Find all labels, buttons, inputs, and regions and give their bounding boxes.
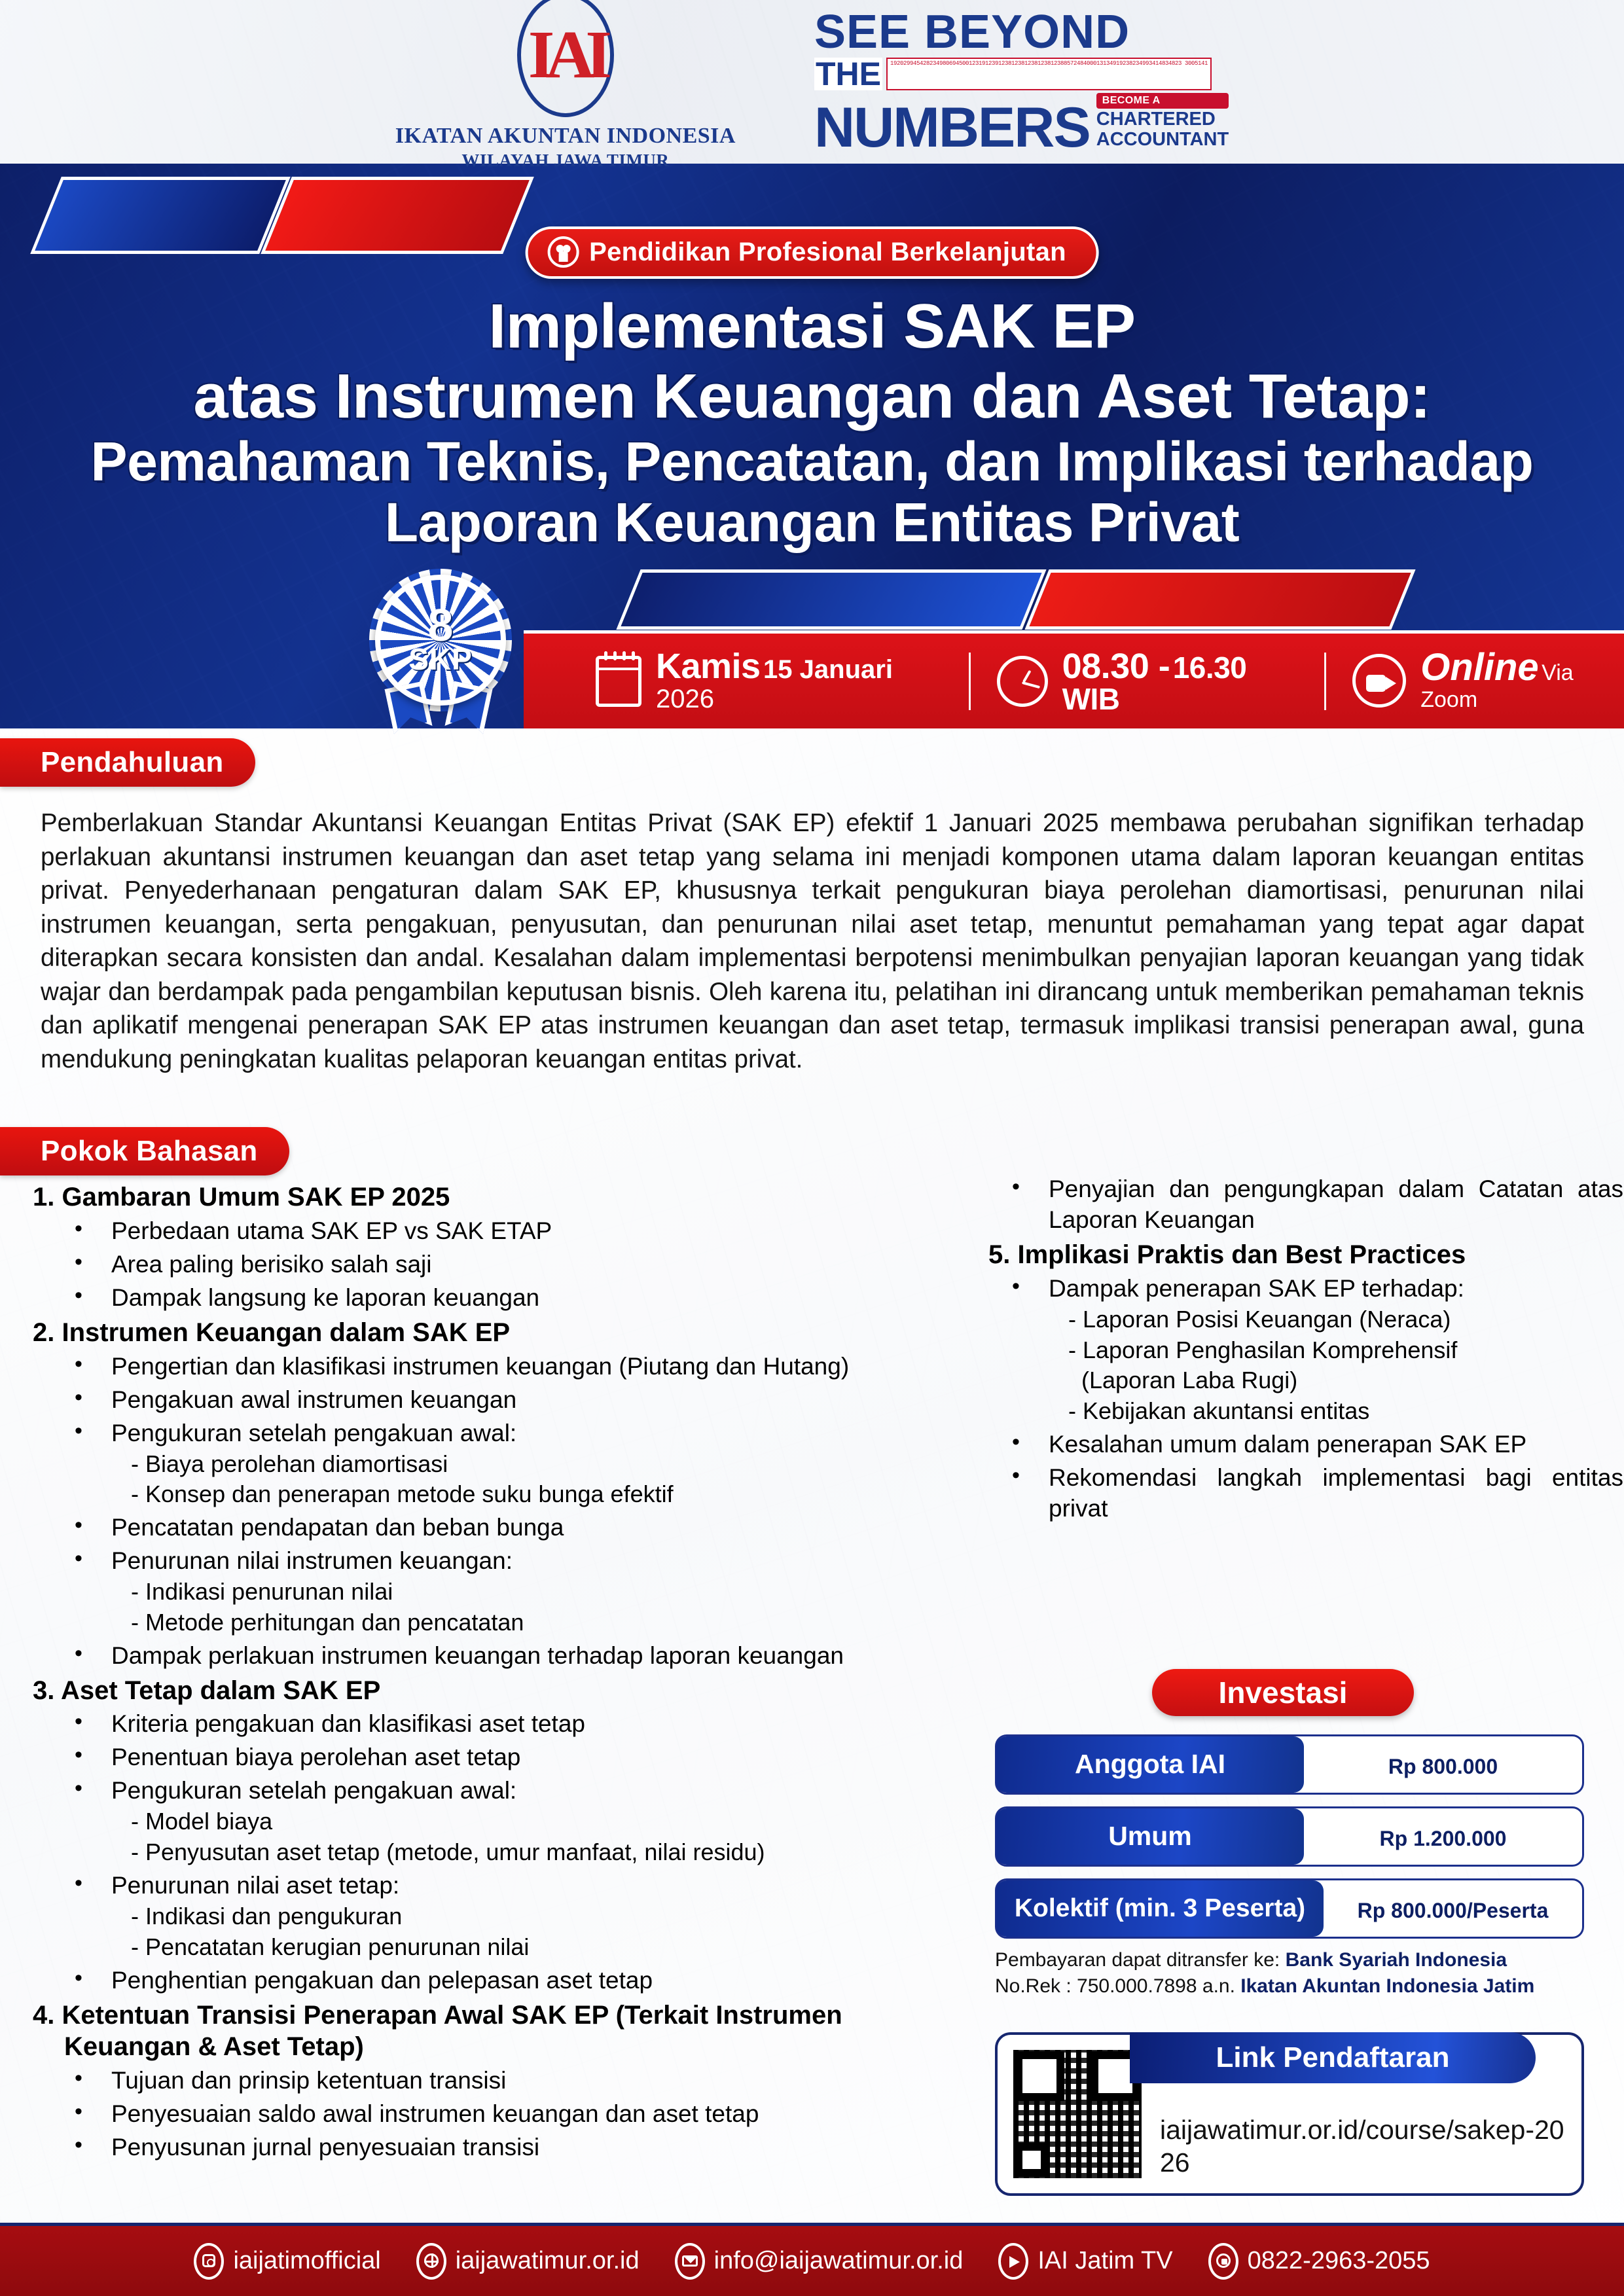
email-address: info@iaijawatimur.or.id [714,2247,964,2275]
topic-5-list: Dampak penerapan SAK EP terhadap: - Lapo… [1008,1274,1623,1524]
rosette-icon: 8 SKP [375,575,506,706]
list-item: Perbedaan utama SAK EP vs SAK ETAP [71,1216,962,1247]
account-holder: Ikatan Akuntan Indonesia Jatim [1240,1975,1534,1997]
skp-badge: 8 SKP [372,575,513,738]
qr-code-icon[interactable] [1009,2046,1146,2182]
list-subitem: - Metode perhitungan dan pencatatan [111,1607,962,1638]
campaign-chartered: CHARTERED [1096,110,1229,130]
decorative-parallelogram-blue [30,177,291,254]
topic-4-heading-line1: 4. Ketentuan Transisi Penerapan Awal SAK… [33,2001,842,2030]
list-subitem: (Laporan Laba Rugi) [1049,1365,1623,1396]
footer-contact-bar: iaijatimofficial iaijawatimur.or.id info… [0,2223,1624,2296]
campaign-the: THE [814,58,882,90]
list-item-label: Dampak penerapan SAK EP terhadap: [1049,1275,1464,1302]
campaign-accountant: ACCOUNTANT [1096,130,1229,150]
topic-4-heading-line2: Keuangan & Aset Tetap) [33,2031,962,2063]
infobar-decorative-strip [628,569,1414,632]
list-item: Rekomendasi langkah implementasi bagi en… [1008,1463,1623,1524]
bank-transfer-info: Pembayaran dapat ditransfer ke: Bank Sya… [995,1947,1610,1999]
decorative-parallelogram-red [261,177,534,254]
whatsapp-icon [1208,2243,1238,2280]
list-item-label: Penurunan nilai instrumen keuangan: [111,1547,513,1574]
registration-link-heading: Link Pendaftaran [1130,2032,1536,2083]
price-row: Umum Rp 1.200.000 [995,1806,1584,1867]
globe-icon [416,2243,446,2280]
list-item: Penurunan nilai aset tetap: - Indikasi d… [71,1871,962,1963]
campaign-become-a: BECOME A [1096,93,1229,109]
campaign-line-1: SEE BEYOND [814,10,1130,54]
org-region: WILAYAH JAWA TIMUR [461,151,669,171]
video-camera-icon [1352,654,1406,708]
clock-icon [997,656,1048,707]
price-row: Anggota IAI Rp 800.000 [995,1734,1584,1795]
section-tab-pendahuluan: Pendahuluan [0,738,255,787]
topic-2-list: Pengertian dan klasifikasi instrumen keu… [71,1352,962,1672]
website-url: iaijawatimur.or.id [456,2247,640,2275]
topic-1-heading: 1. Gambaran Umum SAK EP 2025 [33,1181,962,1213]
skp-number: 8 [428,606,454,645]
hero-decorative-bars [46,177,569,255]
list-subitem: - Indikasi dan pengukuran [111,1901,962,1932]
investasi-heading: Investasi [1152,1669,1414,1716]
list-subitem: - Biaya perolehan diamortisasi [111,1449,962,1480]
list-item: Area paling berisiko salah saji [71,1249,962,1280]
price-row: Kolektif (min. 3 Peserta) Rp 800.000/Pes… [995,1878,1584,1939]
youtube-channel: IAI Jatim TV [1038,2247,1172,2275]
event-date: 15 Januari [763,655,893,684]
list-item: Tujuan dan prinsip ketentuan transisi [71,2066,962,2096]
org-name: IKATAN AKUNTAN INDONESIA [395,124,736,149]
topic-4-list: Tujuan dan prinsip ketentuan transisi Pe… [71,2066,962,2163]
event-title: Implementasi SAK EP atas Instrumen Keuan… [0,292,1624,554]
bank-line2-plain: No.Rek : 750.000.7898 a.n. [995,1975,1240,1997]
event-time-block: 08.30 - 16.30 WIB [997,649,1299,714]
event-date-block: Kamis 15 Januari 2026 [596,649,943,714]
event-mode: Online [1420,646,1538,689]
iai-monogram: IAI [528,21,603,89]
instagram-handle: iaijatimofficial [233,2247,380,2275]
footer-instagram[interactable]: iaijatimofficial [194,2243,380,2280]
list-item: Pengakuan awal instrumen keuangan [71,1385,962,1416]
bank-name: Bank Syariah Indonesia [1286,1949,1507,1971]
topic-3-heading: 3. Aset Tetap dalam SAK EP [33,1675,962,1707]
price-label: Kolektif (min. 3 Peserta) [996,1880,1324,1937]
bank-line1-plain: Pembayaran dapat ditransfer ke: [995,1949,1286,1971]
divider [969,653,971,710]
title-line-2: atas Instrumen Keuangan dan Aset Tetap: [33,362,1591,432]
campaign-digits-strip: 1920299454282349806945001231912391238123… [886,58,1212,90]
instagram-icon [194,2243,224,2280]
calendar-icon [596,656,641,707]
strip-parallelogram-blue [616,569,1046,630]
list-subitem: - Kebijakan akuntansi entitas [1049,1396,1623,1427]
section-tab-pokok-bahasan: Pokok Bahasan [0,1127,289,1175]
list-item: Penyusunan jurnal penyesuaian transisi [71,2132,962,2163]
iai-logo: IAI IKATAN AKUNTAN INDONESIA WILAYAH JAW… [395,0,736,171]
list-subitem: - Pencatatan kerugian penurunan nilai [111,1932,962,1963]
list-item: Penyesuaian saldo awal instrumen keuanga… [71,2099,962,2130]
event-day: Kamis [656,647,761,686]
footer-website[interactable]: iaijawatimur.or.id [416,2243,640,2280]
divider [1324,653,1326,710]
list-item: Pengukuran setelah pengakuan awal: - Bia… [71,1418,962,1511]
list-item-label: Penurunan nilai aset tetap: [111,1872,399,1899]
campaign-numbers: NUMBERS [814,103,1090,153]
event-mode-block: Online Via Zoom [1352,649,1624,713]
list-subitem: - Laporan Penghasilan Komprehensif [1049,1335,1623,1366]
footer-whatsapp[interactable]: 0822-2963-2055 [1208,2243,1430,2280]
list-item: Kriteria pengakuan dan klasifikasi aset … [71,1709,962,1740]
see-beyond-numbers-logo: SEE BEYOND THE 1920299454282349806945001… [814,10,1229,154]
youtube-play-icon [998,2243,1028,2280]
list-subitem: - Indikasi penurunan nilai [111,1577,962,1607]
topic-4-continued-list: Penyajian dan pengungkapan dalam Catatan… [1008,1174,1623,1236]
price-label: Anggota IAI [996,1736,1304,1793]
price-value: Rp 1.200.000 [1304,1820,1582,1853]
program-badge: Pendidikan Profesional Berkelanjutan [525,226,1099,279]
list-subitem: - Konsep dan penerapan metode suku bunga… [111,1479,962,1510]
price-value: Rp 800.000 [1304,1748,1582,1781]
skp-unit: SKP [408,645,473,674]
pokok-bahasan-right-column: Penyajian dan pengungkapan dalam Catatan… [988,1172,1623,1527]
topic-3-list: Kriteria pengakuan dan klasifikasi aset … [71,1709,962,1996]
topic-5-heading: 5. Implikasi Praktis dan Best Practices [988,1239,1623,1271]
title-line-3: Pemahaman Teknis, Pencatatan, dan Implik… [33,431,1591,492]
pendahuluan-body: Pemberlakuan Standar Akuntansi Keuangan … [41,806,1584,1077]
price-label: Umum [996,1808,1304,1865]
list-item: Pengukuran setelah pengakuan awal: - Mod… [71,1776,962,1868]
envelope-icon [675,2243,705,2280]
list-item: Penghentian pengakuan dan pelepasan aset… [71,1965,962,1996]
list-item: Dampak penerapan SAK EP terhadap: - Lapo… [1008,1274,1623,1427]
list-item: Dampak langsung ke laporan keuangan [71,1283,962,1314]
list-item: Dampak perlakuan instrumen keuangan terh… [71,1641,962,1672]
list-item: Penyajian dan pengungkapan dalam Catatan… [1008,1174,1623,1236]
title-line-1: Implementasi SAK EP [33,292,1591,362]
event-info-bar: Kamis 15 Januari 2026 08.30 - 16.30 WIB … [524,630,1624,728]
list-item-label: Pengukuran setelah pengakuan awal: [111,1420,516,1446]
list-item-label: Pengukuran setelah pengakuan awal: [111,1777,516,1804]
event-time-start: 08.30 - [1062,647,1170,686]
list-item: Pencatatan pendapatan dan beban bunga [71,1513,962,1543]
program-badge-label: Pendidikan Profesional Berkelanjutan [589,238,1066,267]
registration-link-box[interactable]: Link Pendaftaran iaijawatimur.or.id/cour… [995,2032,1584,2196]
list-item: Pengertian dan klasifikasi instrumen keu… [71,1352,962,1382]
price-value: Rp 800.000/Peserta [1324,1892,1582,1925]
list-item: Penurunan nilai instrumen keuangan: - In… [71,1546,962,1638]
title-line-4: Laporan Keuangan Entitas Privat [33,492,1591,553]
footer-youtube[interactable]: IAI Jatim TV [998,2243,1172,2280]
people-icon [547,236,579,268]
topic-4-heading: 4. Ketentuan Transisi Penerapan Awal SAK… [33,2000,962,2064]
iai-emblem-icon: IAI [517,0,614,117]
whatsapp-number: 0822-2963-2055 [1248,2247,1430,2275]
pokok-bahasan-left-column: 1. Gambaran Umum SAK EP 2025 Perbedaan u… [33,1178,962,2166]
list-item: Penentuan biaya perolehan aset tetap [71,1742,962,1773]
list-subitem: - Laporan Posisi Keuangan (Neraca) [1049,1304,1623,1335]
strip-parallelogram-red [1024,569,1415,630]
footer-email[interactable]: info@iaijawatimur.or.id [675,2243,964,2280]
top-logo-bar: IAI IKATAN AKUNTAN INDONESIA WILAYAH JAW… [0,0,1624,164]
list-item: Kesalahan umum dalam penerapan SAK EP [1008,1429,1623,1460]
list-subitem: - Penyusutan aset tetap (metode, umur ma… [111,1837,962,1868]
topic-2-heading: 2. Instrumen Keuangan dalam SAK EP [33,1317,962,1349]
list-subitem: - Model biaya [111,1806,962,1837]
event-year: 2026 [656,685,714,713]
topic-1-list: Perbedaan utama SAK EP vs SAK ETAP Area … [71,1216,962,1314]
